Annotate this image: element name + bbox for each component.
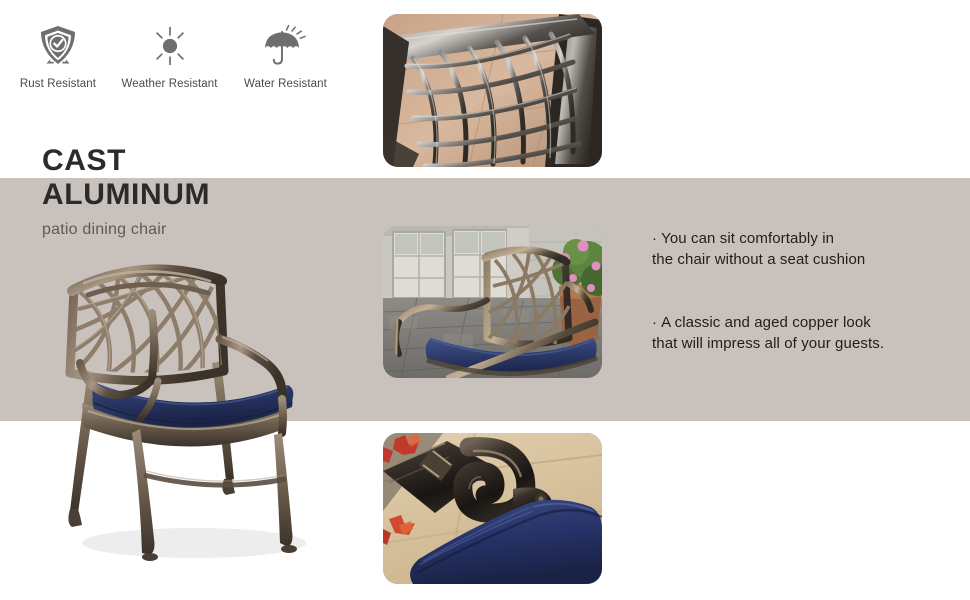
headline-line-1: CAST xyxy=(42,144,342,178)
feature-label: Water Resistant xyxy=(233,78,338,90)
headline-block: CAST ALUMINUM patio dining chair xyxy=(42,144,342,239)
feature-label: Rust Resistant xyxy=(8,78,108,90)
feature-water-resistant: Water Resistant xyxy=(233,22,338,90)
benefit-line-2: that will impress all of your guests. xyxy=(652,335,884,352)
umbrella-rain-icon xyxy=(233,22,338,70)
benefit-item: ·You can sit comfortably in the chair wi… xyxy=(652,228,957,270)
feature-label: Weather Resistant xyxy=(113,78,226,90)
feature-icon-row: Rust Resistant Weather Resistant xyxy=(0,22,360,107)
benefit-line-2: the chair without a seat cushion xyxy=(652,251,865,268)
bullet-marker: · xyxy=(652,230,657,247)
photo-lattice-backrest-detail[interactable] xyxy=(383,14,602,167)
product-infographic: Rust Resistant Weather Resistant xyxy=(0,0,970,600)
sun-icon xyxy=(113,22,226,70)
benefit-list: ·You can sit comfortably in the chair wi… xyxy=(652,228,957,354)
hero-chair-image xyxy=(44,243,344,568)
feature-weather-resistant: Weather Resistant xyxy=(113,22,226,90)
feature-rust-resistant: Rust Resistant xyxy=(8,22,108,90)
shield-check-icon xyxy=(8,22,108,70)
headline-subtitle: patio dining chair xyxy=(42,221,342,239)
benefit-item: ·A classic and aged copper look that wil… xyxy=(652,312,957,354)
headline-line-2: ALUMINUM xyxy=(42,178,342,212)
bullet-marker: · xyxy=(652,314,657,331)
benefit-line-1: A classic and aged copper look xyxy=(661,314,871,331)
benefit-line-1: You can sit comfortably in xyxy=(661,230,834,247)
photo-chair-outdoors[interactable] xyxy=(383,226,602,378)
photo-armrest-scroll-detail[interactable] xyxy=(383,433,602,584)
